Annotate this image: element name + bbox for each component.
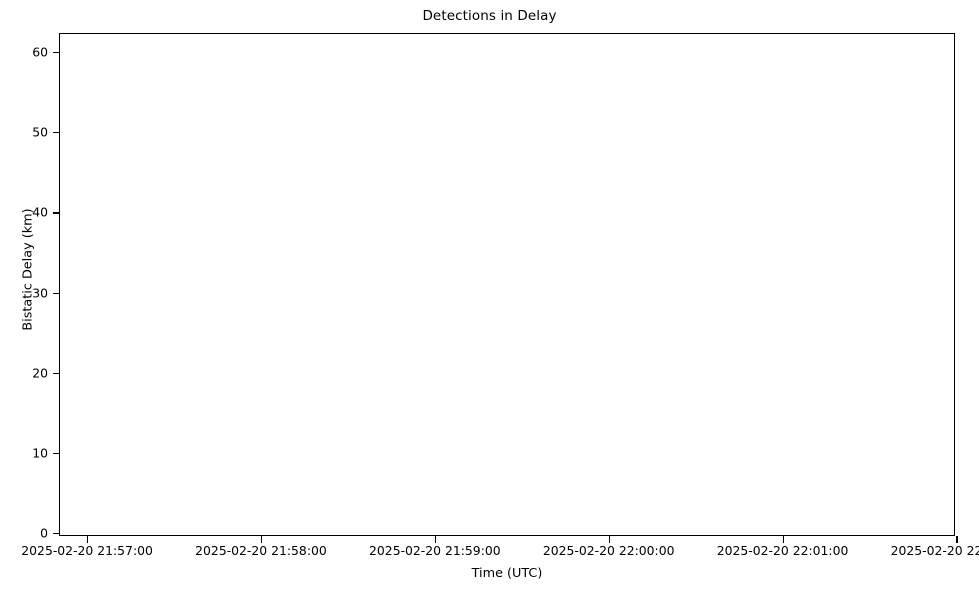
x-tick-label: 2025-02-20 22:02:00: [891, 543, 979, 558]
x-tick-mark: [435, 536, 436, 543]
x-tick-label: 2025-02-20 21:59:00: [369, 543, 501, 558]
x-tick-label: 2025-02-20 22:01:00: [717, 543, 849, 558]
y-tick-label: 0: [40, 525, 48, 540]
x-tick-mark: [783, 536, 784, 543]
y-tick-mark: [53, 453, 60, 454]
x-tick-label: 2025-02-20 21:58:00: [195, 543, 327, 558]
chart-title: Detections in Delay: [0, 8, 979, 24]
x-tick-label: 2025-02-20 21:57:00: [21, 543, 153, 558]
y-tick-mark: [53, 533, 60, 534]
scatter-series-layer: [60, 34, 954, 535]
y-tick-mark: [53, 373, 60, 374]
x-tick-mark: [956, 536, 957, 543]
y-tick-mark: [53, 52, 60, 53]
y-axis-label: Bistatic Delay (km): [21, 150, 36, 390]
y-tick-label: 50: [32, 125, 48, 140]
plot-area: [59, 33, 955, 536]
y-tick-mark: [53, 132, 60, 133]
y-tick-mark: [53, 212, 60, 213]
x-tick-mark: [87, 536, 88, 543]
matplotlib-figure: Detections in Delay 0102030405060 Time (…: [0, 0, 979, 590]
x-tick-label: 2025-02-20 22:00:00: [543, 543, 675, 558]
y-tick-mark: [53, 293, 60, 294]
x-tick-mark: [609, 536, 610, 543]
x-tick-mark: [261, 536, 262, 543]
y-tick-label: 10: [32, 445, 48, 460]
y-tick-label: 60: [32, 45, 48, 60]
x-axis-label: Time (UTC): [59, 566, 955, 581]
